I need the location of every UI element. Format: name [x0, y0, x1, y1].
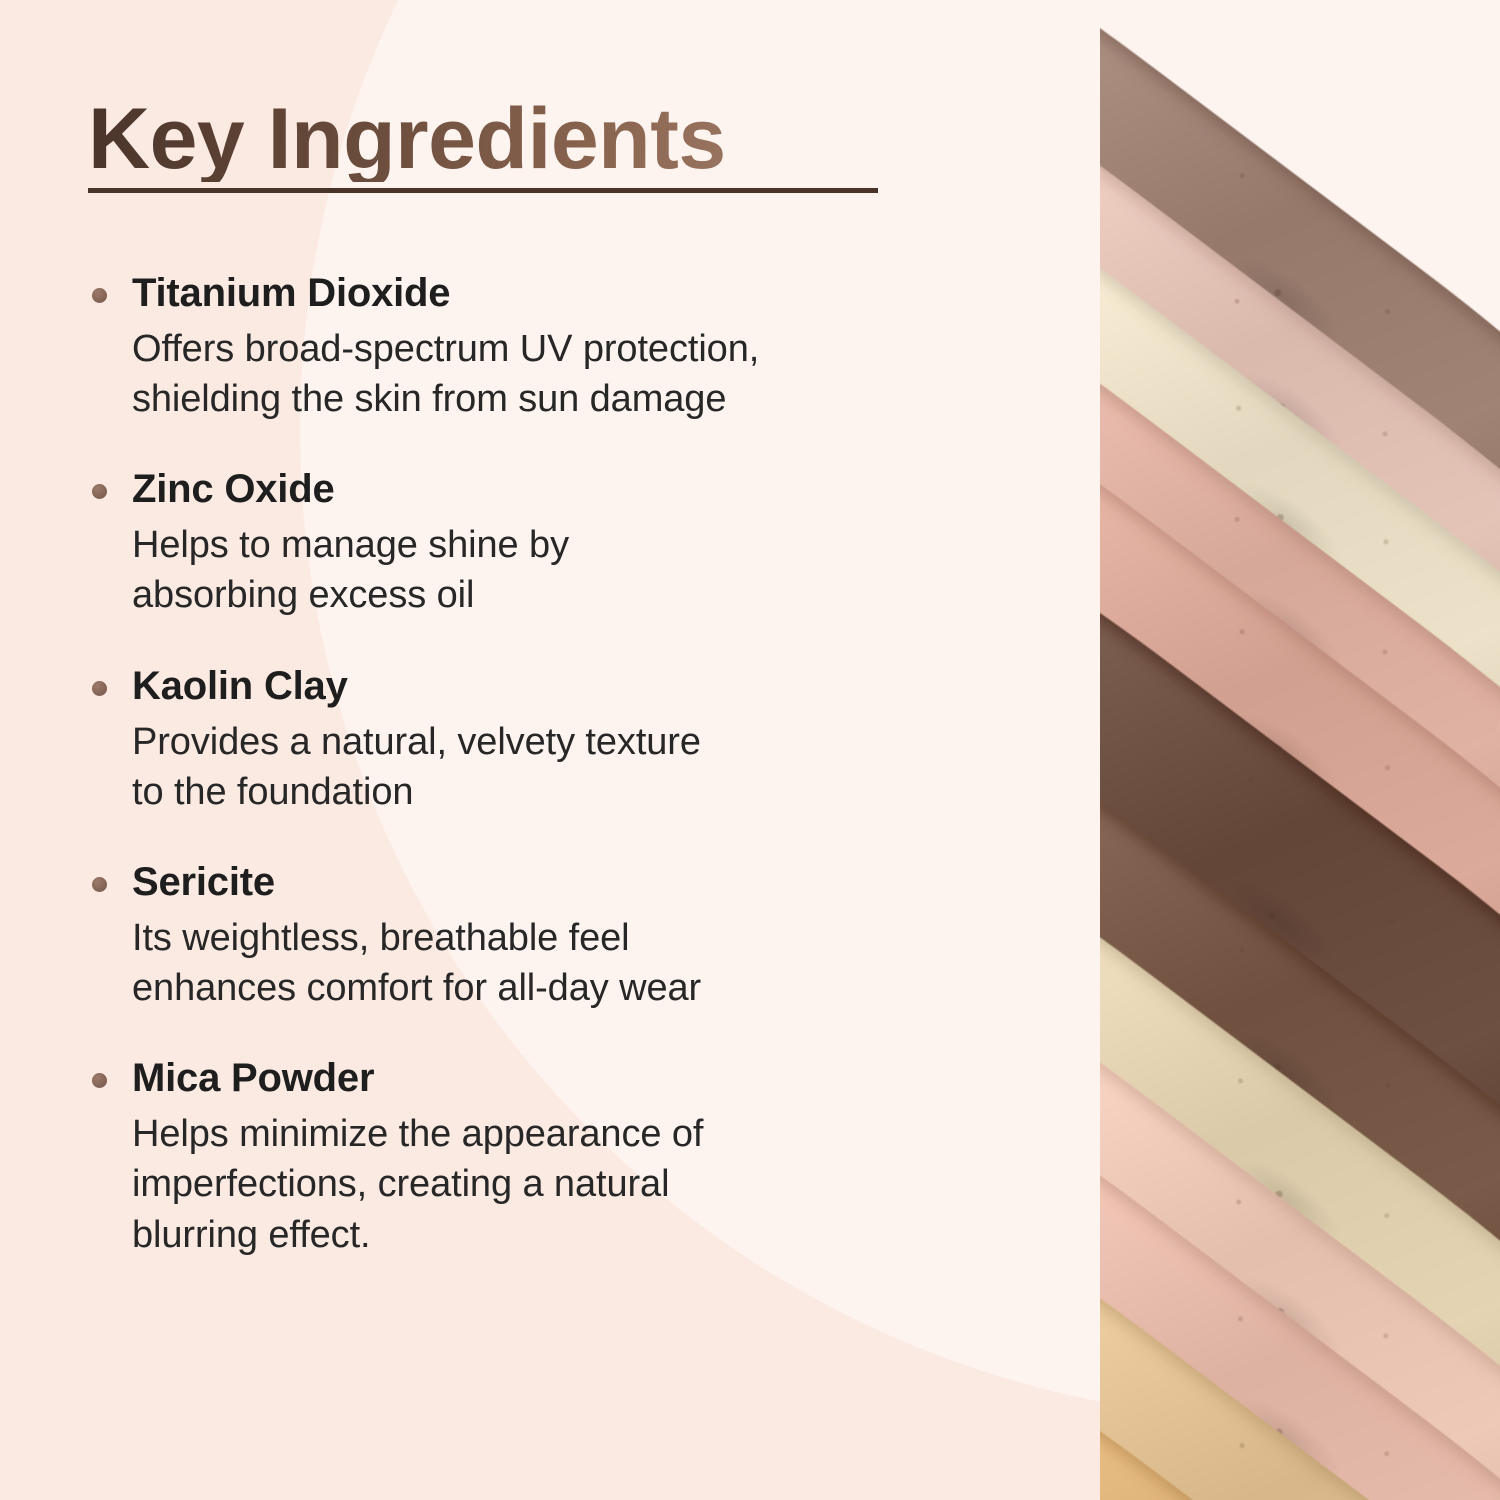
ingredient-name: Zinc Oxide — [132, 464, 970, 514]
bullet-dot-icon — [92, 681, 107, 696]
title-underline — [88, 188, 878, 193]
ingredient-item: Titanium DioxideOffers broad-spectrum UV… — [90, 268, 970, 424]
ingredient-name: Kaolin Clay — [132, 661, 970, 711]
ingredient-list: Titanium DioxideOffers broad-spectrum UV… — [90, 268, 970, 1260]
bullet-dot-icon — [92, 484, 107, 499]
product-ingredients-graphic: Key Ingredients Titanium DioxideOffers b… — [0, 0, 1500, 1500]
bullet-dot-icon — [92, 288, 107, 303]
ingredient-name: Mica Powder — [132, 1053, 970, 1103]
ingredient-description: Helps to manage shine by absorbing exces… — [132, 520, 970, 620]
ingredient-name: Titanium Dioxide — [132, 268, 970, 318]
bullet-dot-icon — [92, 1073, 107, 1088]
ingredient-description: Helps minimize the appearance of imperfe… — [132, 1109, 970, 1259]
title-block: Key Ingredients — [88, 96, 878, 193]
ingredient-description: Offers broad-spectrum UV protection, shi… — [132, 324, 970, 424]
ingredient-description: Its weightless, breathable feel enhances… — [132, 913, 970, 1013]
page-title: Key Ingredients — [88, 96, 878, 182]
powder-bands-group — [1100, 0, 1500, 1500]
ingredient-item: Mica PowderHelps minimize the appearance… — [90, 1053, 970, 1259]
ingredient-item: SericiteIts weightless, breathable feel … — [90, 857, 970, 1013]
ingredient-item: Kaolin ClayProvides a natural, velvety t… — [90, 661, 970, 817]
powder-swatch-photo — [1100, 0, 1500, 1500]
ingredient-name: Sericite — [132, 857, 970, 907]
ingredient-item: Zinc OxideHelps to manage shine by absor… — [90, 464, 970, 620]
bullet-dot-icon — [92, 877, 107, 892]
ingredient-description: Provides a natural, velvety texture to t… — [132, 717, 970, 817]
